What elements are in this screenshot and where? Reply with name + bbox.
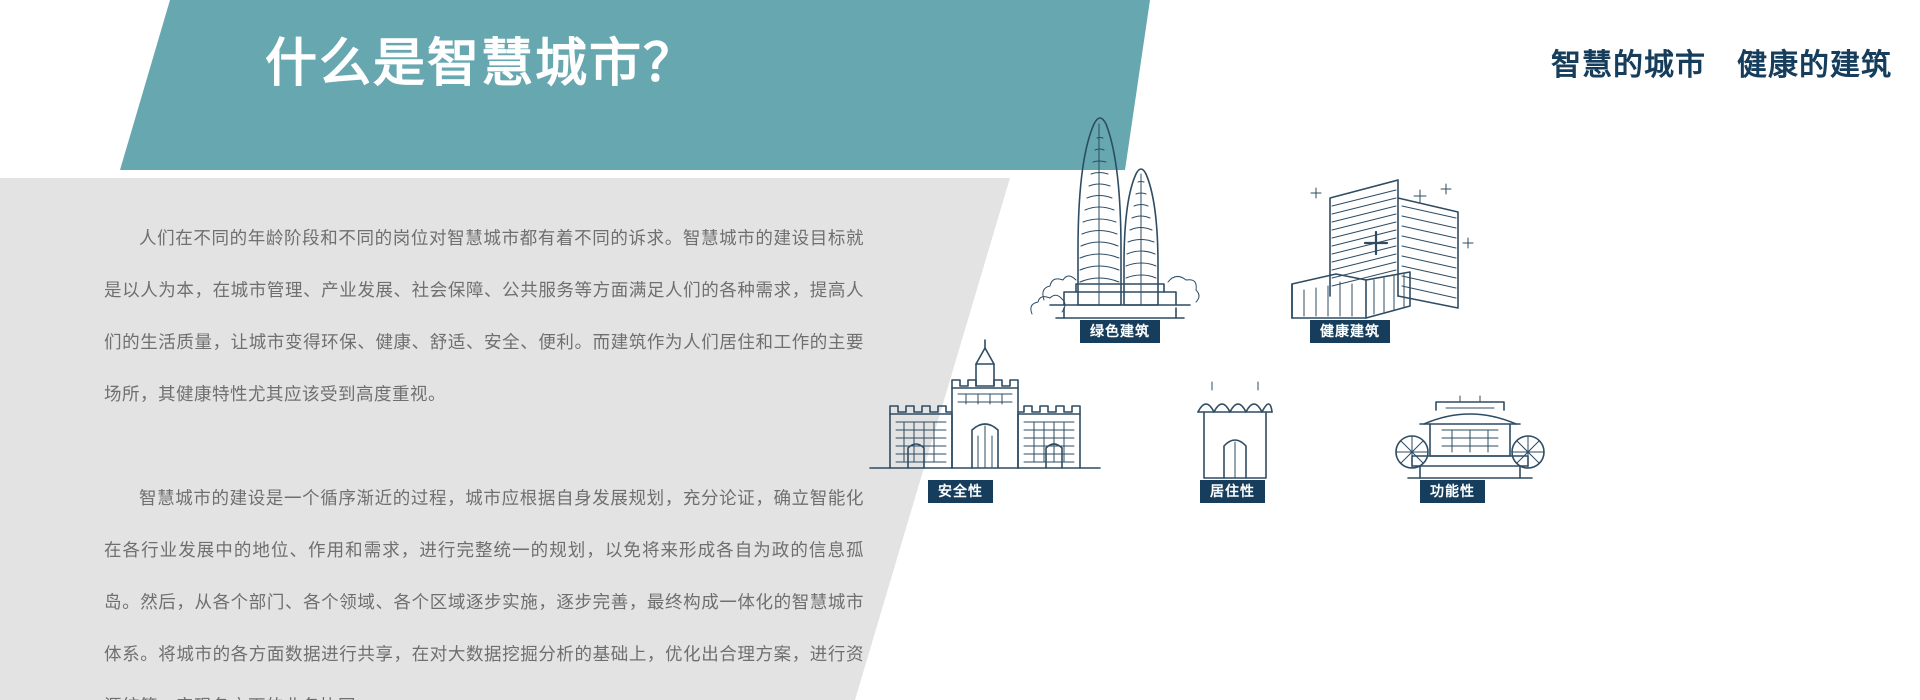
- page-title: 什么是智慧城市？: [265, 36, 697, 93]
- house-shop-icon: [1180, 378, 1290, 488]
- hospital-building-icon: [1270, 168, 1480, 328]
- poster-root: 什么是智慧城市？ 智慧的城市 健康的建筑 人们在不同的年龄阶段和不同的岗位对智慧…: [0, 0, 1920, 700]
- paragraph-1: 人们在不同的年龄阶段和不同的岗位对智慧城市都有着不同的诉求。智慧城市的建设目标就…: [104, 212, 864, 420]
- caption-health-building: 健康建筑: [1310, 320, 1390, 343]
- twin-towers-icon: [1020, 100, 1220, 320]
- caption-green-building: 绿色建筑: [1080, 320, 1160, 343]
- illustration-group: 绿色建筑: [1020, 90, 1900, 610]
- caption-safety: 安全性: [928, 480, 993, 503]
- castle-icon: [860, 348, 1110, 478]
- brand-heading: 智慧的城市 健康的建筑: [1551, 40, 1892, 84]
- pavilion-icon: [1390, 380, 1550, 490]
- caption-functionality: 功能性: [1420, 480, 1485, 503]
- body-copy: 人们在不同的年龄阶段和不同的岗位对智慧城市都有着不同的诉求。智慧城市的建设目标就…: [104, 212, 864, 700]
- paragraph-2: 智慧城市的建设是一个循序渐近的过程，城市应根据自身发展规划，充分论证，确立智能化…: [104, 472, 864, 700]
- caption-livability: 居住性: [1200, 480, 1265, 503]
